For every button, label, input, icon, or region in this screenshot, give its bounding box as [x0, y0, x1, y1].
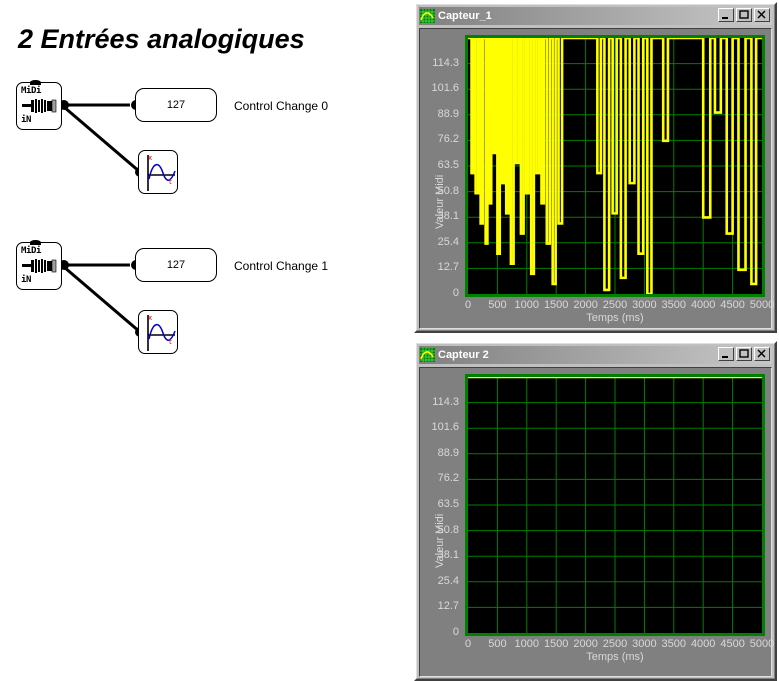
midi-in-block-0[interactable]: MiDi iN — [16, 82, 62, 130]
green-grid-chart-icon — [420, 348, 435, 362]
titlebar-0[interactable]: Capteur_1 — [419, 7, 772, 25]
midi-block-label-bottom: iN — [21, 275, 31, 285]
close-button[interactable] — [754, 347, 770, 361]
x-tick-label: 5000 — [742, 638, 779, 650]
midi-block-label-top: MiDi — [21, 246, 41, 256]
maximize-button[interactable] — [736, 347, 752, 361]
y-tick-label: 88.9 — [420, 108, 459, 120]
svg-text:x: x — [148, 314, 152, 322]
y-tick-label: 76.2 — [420, 472, 459, 484]
y-axis-title-0: Valeur Midi — [434, 175, 446, 229]
x-tick-label: 5000 — [742, 299, 779, 311]
y-tick-label: 25.4 — [420, 236, 459, 248]
window-capteur-2[interactable]: Capteur 2 012.725.438.150.863.576.288.91… — [414, 341, 777, 681]
value-box-0[interactable]: 127 — [135, 88, 217, 122]
y-tick-label: 76.2 — [420, 133, 459, 145]
plot-canvas-0 — [468, 38, 762, 294]
chart-1: 012.725.438.150.863.576.288.9101.6114.3 … — [420, 368, 771, 676]
midi-block-label-top: MiDi — [21, 86, 41, 96]
maximize-button[interactable] — [736, 8, 752, 22]
window-title-1: Capteur 2 — [438, 349, 489, 361]
svg-text:t: t — [169, 178, 172, 186]
waveform-scope-icon: x t — [139, 311, 178, 354]
close-button[interactable] — [754, 8, 770, 22]
window-controls-1 — [718, 347, 770, 361]
y-tick-label: 63.5 — [420, 159, 459, 171]
svg-text:x: x — [148, 154, 152, 162]
x-axis-title-1: Temps (ms) — [465, 651, 765, 663]
y-tick-label: 25.4 — [420, 575, 459, 587]
midi-din-connector-icon — [22, 99, 58, 113]
scope-block-0[interactable]: x t — [138, 150, 178, 194]
midi-in-block-1[interactable]: MiDi iN — [16, 242, 62, 290]
page-title: 2 Entrées analogiques — [18, 24, 398, 55]
plot-area-1 — [465, 374, 765, 636]
midi-block-label-bottom: iN — [21, 115, 31, 125]
diagram-panel: 2 Entrées analogiques MiDi — [0, 0, 410, 681]
window-capteur-1[interactable]: Capteur_1 012.725.438.150.863.576.288.91… — [414, 2, 777, 333]
y-tick-label: 12.7 — [420, 261, 459, 273]
window-controls-0 — [718, 8, 770, 22]
midi-din-connector-icon — [22, 259, 58, 273]
chart-0: 012.725.438.150.863.576.288.9101.6114.3 … — [420, 29, 771, 328]
y-tick-label: 101.6 — [420, 421, 459, 433]
value-box-number: 127 — [167, 99, 185, 111]
block-nub-icon — [30, 80, 41, 85]
titlebar-1[interactable]: Capteur 2 — [419, 346, 772, 364]
block-nub-icon — [30, 240, 41, 245]
green-grid-chart-icon — [420, 9, 435, 23]
control-change-label-1: Control Change 1 — [234, 259, 328, 273]
x-axis-title-0: Temps (ms) — [465, 312, 765, 324]
waveform-scope-icon: x t — [139, 151, 178, 194]
y-tick-label: 0 — [420, 626, 459, 638]
y-tick-label: 63.5 — [420, 498, 459, 510]
control-change-label-0: Control Change 0 — [234, 99, 328, 113]
y-tick-label: 101.6 — [420, 82, 459, 94]
y-tick-label: 114.3 — [420, 396, 459, 408]
chart-client-0: 012.725.438.150.863.576.288.9101.6114.3 … — [419, 28, 772, 329]
y-tick-label: 0 — [420, 287, 459, 299]
minimize-button[interactable] — [718, 8, 734, 22]
svg-text:t: t — [169, 338, 172, 346]
y-tick-label: 114.3 — [420, 57, 459, 69]
y-axis-title-1: Valeur Midi — [434, 514, 446, 568]
y-tick-label: 12.7 — [420, 600, 459, 612]
y-tick-label: 88.9 — [420, 447, 459, 459]
scope-block-1[interactable]: x t — [138, 310, 178, 354]
chart-client-1: 012.725.438.150.863.576.288.9101.6114.3 … — [419, 367, 772, 677]
value-box-number: 127 — [167, 259, 185, 271]
window-title-0: Capteur_1 — [438, 10, 492, 22]
plot-area-0 — [465, 35, 765, 297]
plot-canvas-1 — [468, 377, 762, 633]
value-box-1[interactable]: 127 — [135, 248, 217, 282]
minimize-button[interactable] — [718, 347, 734, 361]
